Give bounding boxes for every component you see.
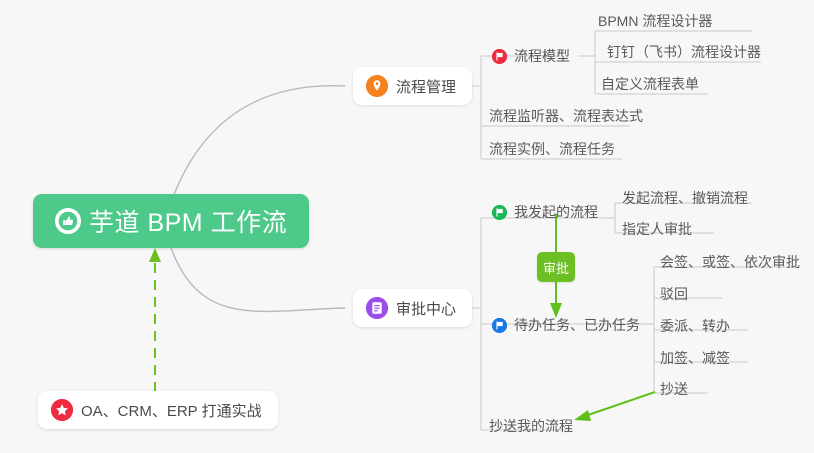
star-icon — [51, 399, 73, 421]
cc-flow-arrow — [574, 392, 655, 421]
node-process-management[interactable]: 流程管理 — [353, 67, 472, 105]
integration-dashed-arrow — [149, 248, 161, 392]
node-label: 委派、转办 — [660, 313, 730, 339]
node-label: BPMN 流程设计器 — [598, 8, 712, 34]
node-cc-my-process[interactable]: 抄送我的流程 — [489, 409, 581, 439]
node-process-listener[interactable]: 流程监听器、流程表达式 — [489, 99, 651, 129]
node-label: 流程模型 — [514, 46, 570, 66]
node-label: 钉钉（飞书）流程设计器 — [607, 39, 761, 65]
connector-root-to-process-management — [170, 86, 345, 205]
node-reject[interactable]: 驳回 — [660, 277, 696, 307]
node-my-initiated-process[interactable]: 我发起的流程 — [492, 198, 598, 226]
node-label: OA、CRM、ERP 打通实战 — [81, 400, 262, 421]
node-process-model[interactable]: 流程模型 — [492, 42, 570, 70]
node-custom-form[interactable]: 自定义流程表单 — [601, 67, 707, 97]
node-label: 我发起的流程 — [514, 202, 598, 222]
node-label: 加签、减签 — [660, 345, 730, 371]
flag-icon — [492, 205, 507, 220]
node-process-instance[interactable]: 流程实例、流程任务 — [489, 132, 623, 162]
node-label: 自定义流程表单 — [601, 71, 699, 97]
approval-badge-label: 审批 — [543, 258, 569, 277]
node-label: 流程实例、流程任务 — [489, 136, 615, 162]
node-label: 流程监听器、流程表达式 — [489, 103, 643, 129]
node-dingtalk-designer[interactable]: 钉钉（飞书）流程设计器 — [607, 35, 769, 65]
node-add-remove-sign[interactable]: 加签、减签 — [660, 341, 738, 371]
connector-root-to-approval-center — [170, 245, 345, 311]
node-label: 发起流程、撤销流程 — [622, 185, 748, 211]
approval-badge[interactable]: 审批 — [537, 252, 575, 282]
node-label: 指定人审批 — [622, 216, 692, 242]
node-carbon-copy[interactable]: 抄送 — [660, 372, 696, 402]
node-countersign[interactable]: 会签、或签、依次审批 — [660, 245, 808, 275]
node-assignee-approval[interactable]: 指定人审批 — [622, 212, 700, 242]
flag-icon — [492, 49, 507, 64]
root-node[interactable]: 芋道 BPM 工作流 — [33, 194, 309, 248]
node-bpmn-designer[interactable]: BPMN 流程设计器 — [598, 4, 720, 34]
document-icon — [366, 297, 388, 319]
node-todo-done-tasks[interactable]: 待办任务、已办任务 — [492, 311, 640, 339]
node-label: 驳回 — [660, 281, 688, 307]
node-label: 抄送我的流程 — [489, 413, 573, 439]
root-label: 芋道 BPM 工作流 — [89, 203, 287, 239]
node-label: 审批中心 — [396, 298, 456, 319]
node-approval-center[interactable]: 审批中心 — [353, 289, 472, 327]
node-label: 会签、或签、依次审批 — [660, 249, 800, 275]
node-start-cancel-process[interactable]: 发起流程、撤销流程 — [622, 181, 756, 211]
node-delegate-transfer[interactable]: 委派、转办 — [660, 309, 738, 339]
node-label: 抄送 — [660, 376, 688, 402]
node-integration-note[interactable]: OA、CRM、ERP 打通实战 — [38, 391, 278, 429]
mindmap-canvas: 芋道 BPM 工作流 流程管理 流程模型 BPMN 流程设计器 钉钉（飞书）流程… — [0, 0, 814, 453]
node-label: 流程管理 — [396, 76, 456, 97]
flag-icon — [492, 318, 507, 333]
node-label: 待办任务、已办任务 — [514, 315, 640, 335]
location-pin-icon — [366, 75, 388, 97]
thumbs-up-icon — [55, 208, 81, 234]
